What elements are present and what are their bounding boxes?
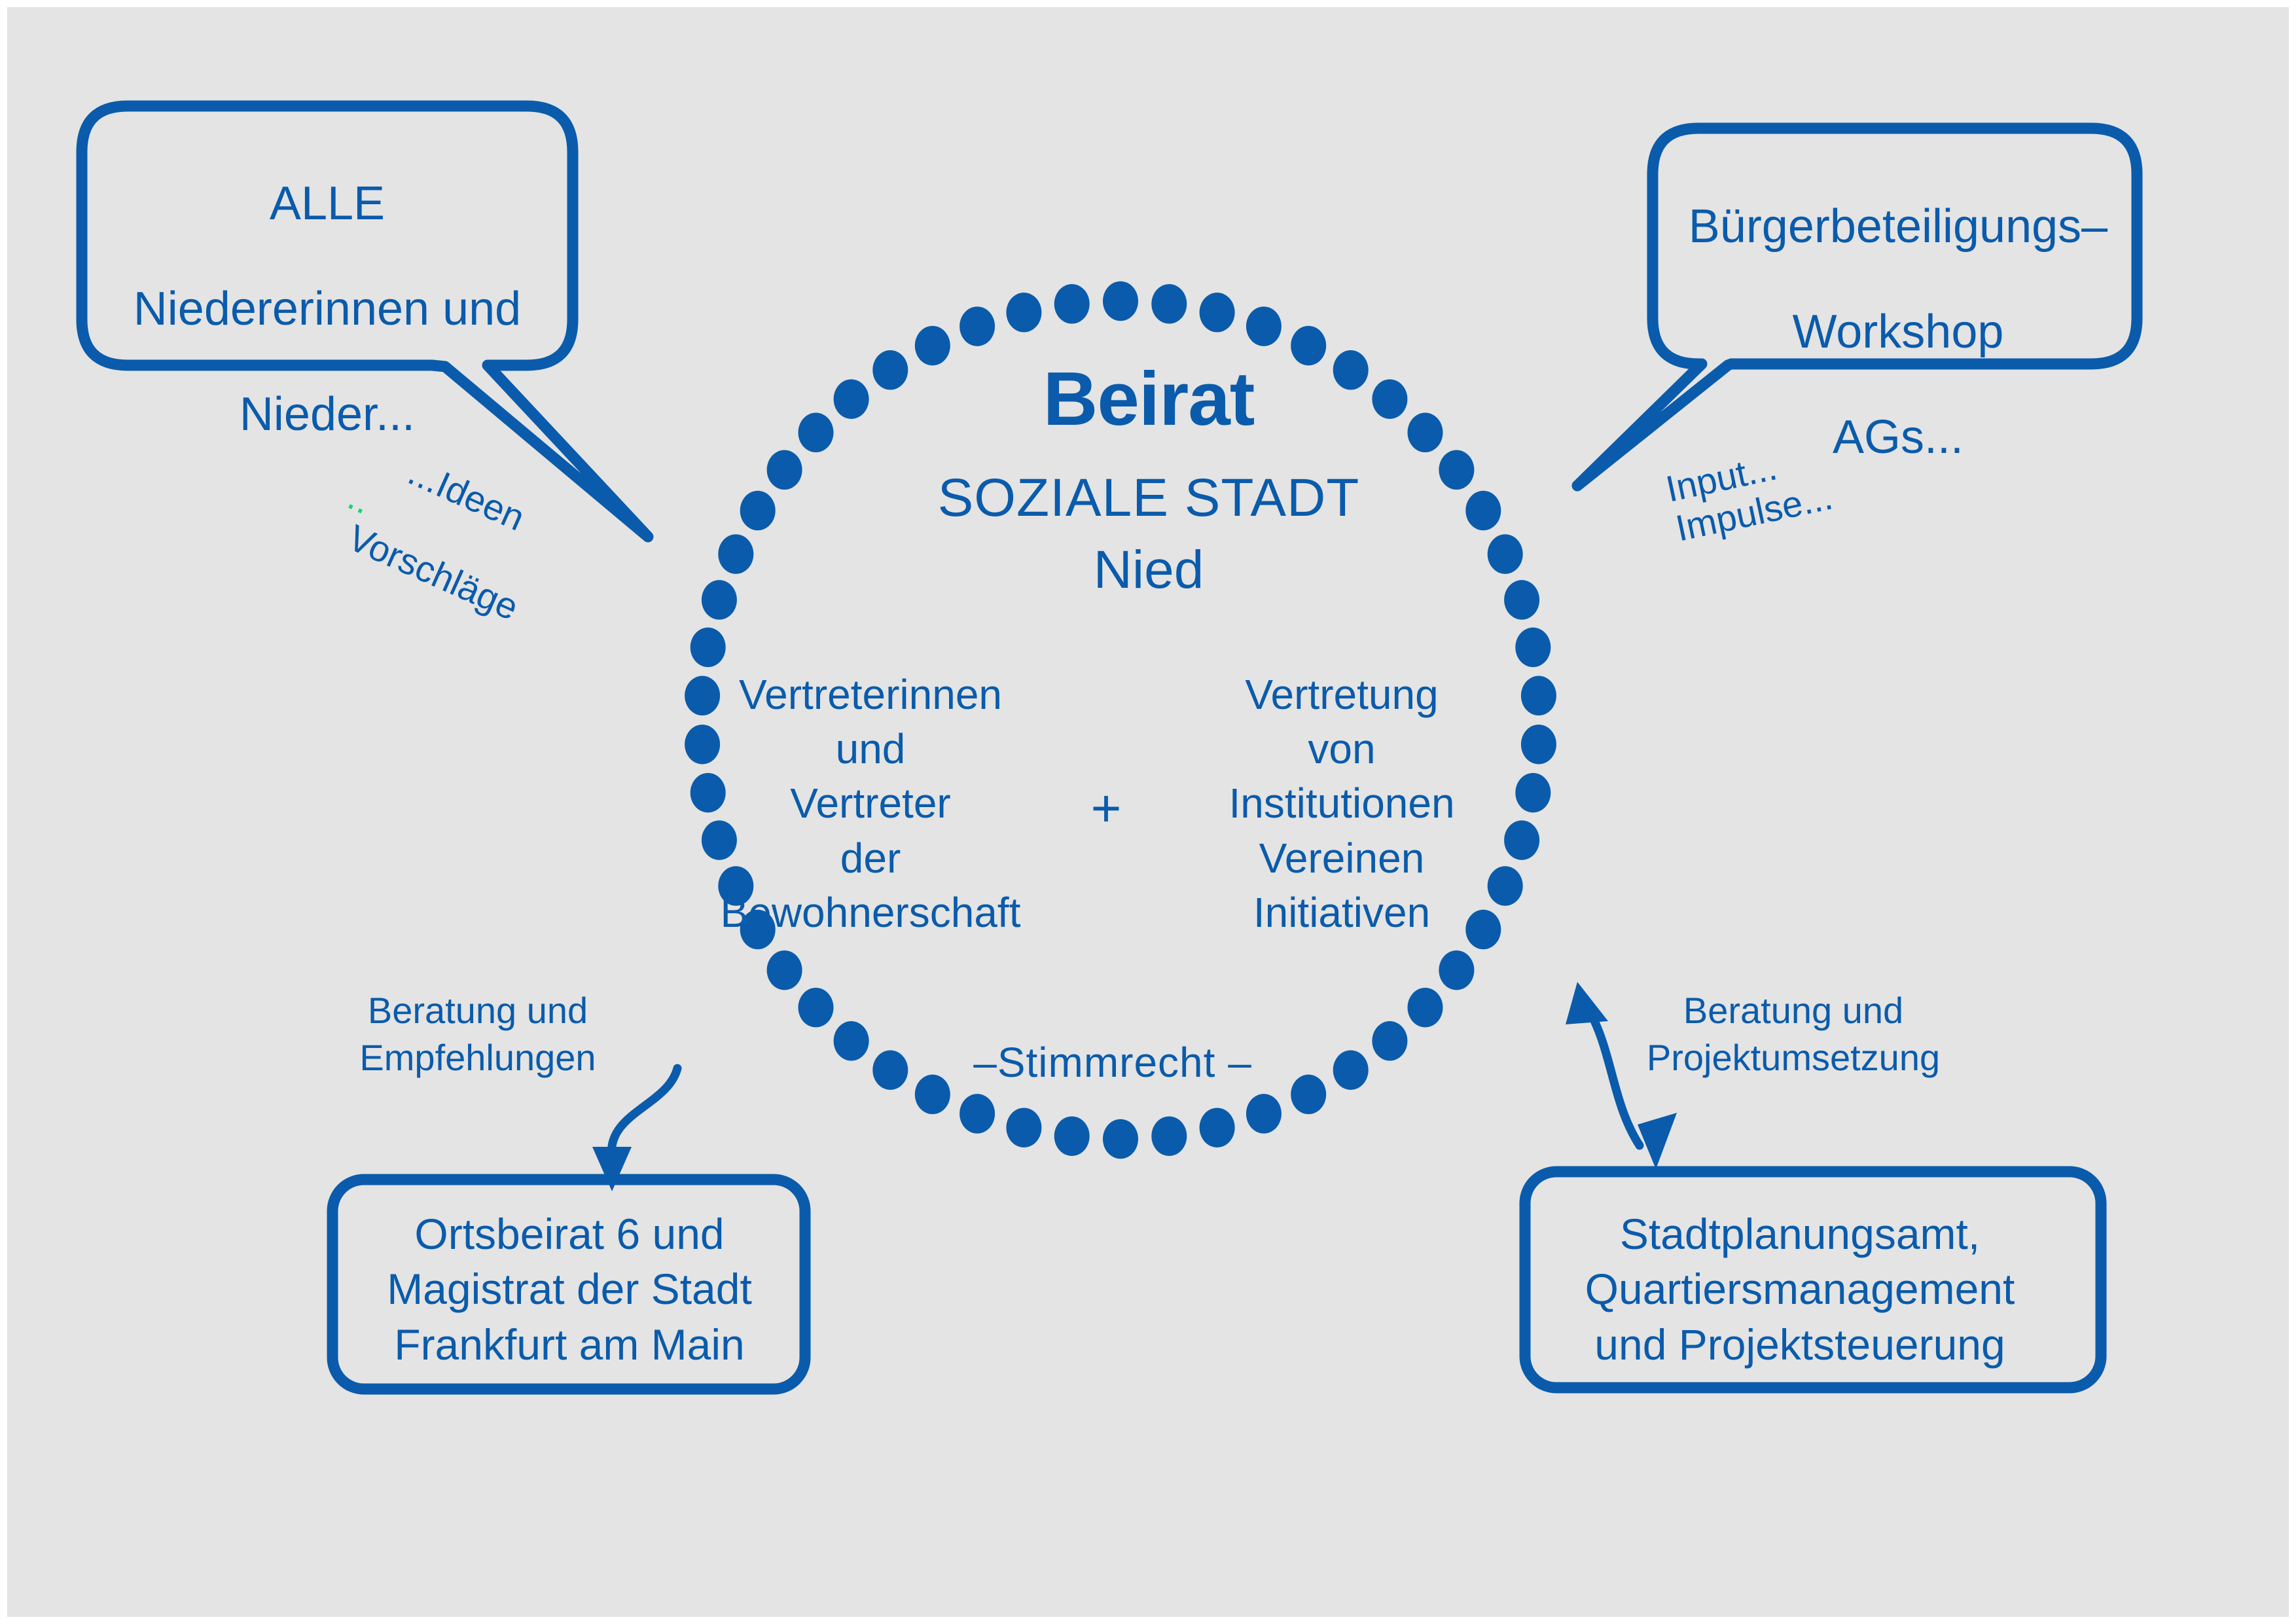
circle-dot	[1439, 950, 1474, 990]
circle-dot	[1521, 725, 1556, 764]
center-footer-stimmrecht: –Stimmrecht –	[916, 1039, 1309, 1087]
box-bottom-left-text: Ortsbeirat 6 und Magistrat der Stadt Fra…	[340, 1206, 798, 1372]
center-title: Beirat	[772, 357, 1525, 442]
circle-dot	[1103, 281, 1138, 321]
bubble-tl-line3: Nieder...	[85, 388, 569, 441]
circle-dot	[1333, 1050, 1369, 1089]
center-column-left: Vertreterinnen und Vertreter der Bewohne…	[694, 668, 1047, 940]
circle-dot	[1408, 988, 1443, 1027]
speech-bubble-top-left-text: ALLE Niedererinnen und Nieder...	[85, 124, 569, 494]
label-beratung-projektumsetzung: Beratung und Projektumsetzung	[1630, 987, 1957, 1081]
bubble-tl-line2: Niedererinnen und	[85, 283, 569, 336]
circle-dot	[740, 491, 776, 530]
center-subtitle-line1: SOZIALE STADT	[772, 468, 1525, 528]
circle-dot	[718, 534, 753, 573]
circle-dot	[1515, 773, 1551, 812]
circle-dot	[1006, 293, 1041, 332]
circle-dot	[960, 1094, 995, 1133]
circle-dot	[1151, 1116, 1187, 1155]
center-subtitle-line2: Nied	[772, 540, 1525, 600]
circle-dot	[1246, 306, 1282, 346]
box-bottom-right-text: Stadtplanungsamt, Quartiersmanagement un…	[1538, 1206, 2062, 1372]
circle-dot	[1521, 676, 1556, 715]
circle-dot	[960, 306, 995, 346]
bubble-tl-line1: ALLE	[85, 177, 569, 230]
circle-dot	[798, 988, 834, 1027]
circle-dot	[1006, 1108, 1041, 1147]
circle-dot	[1246, 1094, 1282, 1133]
center-plus-sign: +	[1067, 779, 1145, 838]
circle-dot	[834, 1021, 869, 1060]
bubble-tr-line1: Bürgerbeteiligungs–	[1656, 200, 2140, 253]
circle-dot	[1200, 293, 1235, 332]
bubble-tr-line2: Workshop	[1656, 306, 2140, 359]
circle-dot	[1151, 284, 1187, 323]
circle-dot	[702, 580, 737, 619]
circle-dot	[691, 628, 726, 667]
diagram-canvas: ALLE Niedererinnen und Nieder... Bürgerb…	[0, 0, 2296, 1624]
circle-dot	[1372, 1021, 1407, 1060]
circle-dot	[1200, 1108, 1235, 1147]
circle-dot	[1054, 284, 1090, 323]
label-beratung-empfehlungen: Beratung und Empfehlungen	[340, 987, 615, 1081]
circle-dot	[1054, 1116, 1090, 1155]
circle-dot	[1103, 1119, 1138, 1159]
circle-dot	[1515, 628, 1551, 667]
circle-dot	[767, 950, 802, 990]
circle-dot	[872, 1050, 908, 1089]
center-column-right: Vertretung von Institutionen Vereinen In…	[1165, 668, 1518, 940]
